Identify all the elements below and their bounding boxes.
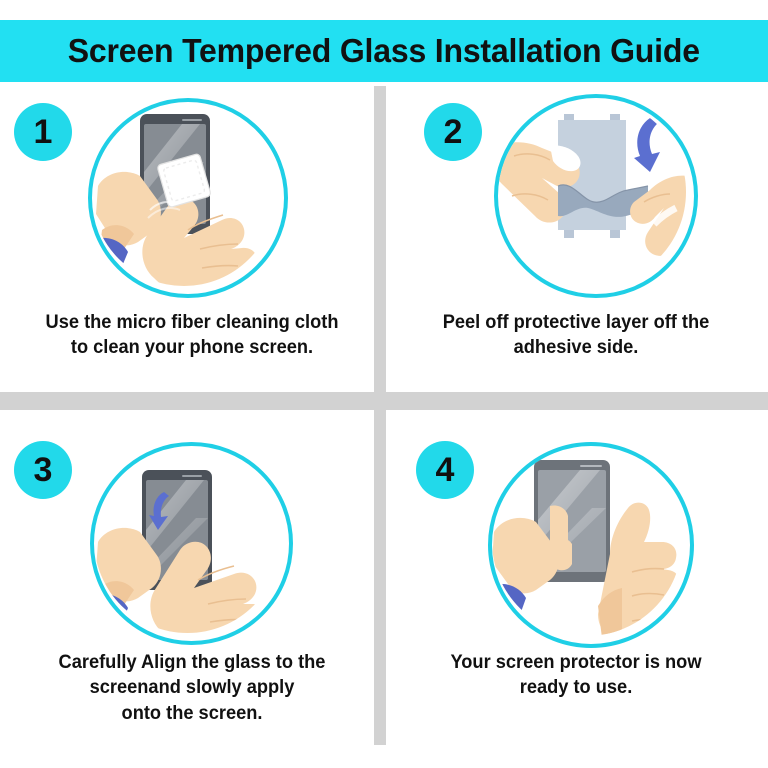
caption-line: Peel off protective layer off the xyxy=(401,310,750,335)
step-caption-4: Your screen protector is now ready to us… xyxy=(401,650,750,701)
step-caption-2: Peel off protective layer off the adhesi… xyxy=(401,310,750,361)
horizontal-divider xyxy=(0,392,768,410)
illustration-hand-wiping-phone xyxy=(92,102,284,294)
caption-line: Carefully Align the glass to the xyxy=(17,650,366,675)
caption-line: Your screen protector is now xyxy=(401,650,750,675)
caption-line: ready to use. xyxy=(401,675,750,700)
header-band: Screen Tempered Glass Installation Guide xyxy=(0,20,768,82)
caption-line: to clean your phone screen. xyxy=(17,335,366,360)
step-badge-1: 1 xyxy=(14,103,72,161)
step-caption-1: Use the micro fiber cleaning cloth to cl… xyxy=(17,310,366,361)
step-illustration-ring-2 xyxy=(494,94,698,298)
step-panel-1: 1 xyxy=(0,86,384,392)
step-badge-3: 3 xyxy=(14,441,72,499)
step-illustration-ring-1 xyxy=(88,98,288,298)
illustration-peeling-film xyxy=(498,98,694,294)
step-panel-3: 3 xyxy=(0,410,384,768)
step-illustration-ring-4 xyxy=(488,442,694,648)
step-panel-2: 2 xyxy=(384,86,768,392)
caption-line: onto the screen. xyxy=(17,701,366,726)
illustration-aligning-glass xyxy=(94,446,289,641)
installation-guide-poster: Screen Tempered Glass Installation Guide… xyxy=(0,0,768,768)
step-panel-4: 4 xyxy=(384,410,768,768)
caption-line: screenand slowly apply xyxy=(17,675,366,700)
step-caption-3: Carefully Align the glass to the screena… xyxy=(17,650,366,726)
step-illustration-ring-3 xyxy=(90,442,293,645)
step-badge-4: 4 xyxy=(416,441,474,499)
illustration-thumbs-up-phone xyxy=(492,446,690,644)
caption-line: adhesive side. xyxy=(401,335,750,360)
page-title: Screen Tempered Glass Installation Guide xyxy=(68,32,700,70)
step-badge-2: 2 xyxy=(424,103,482,161)
caption-line: Use the micro fiber cleaning cloth xyxy=(17,310,366,335)
